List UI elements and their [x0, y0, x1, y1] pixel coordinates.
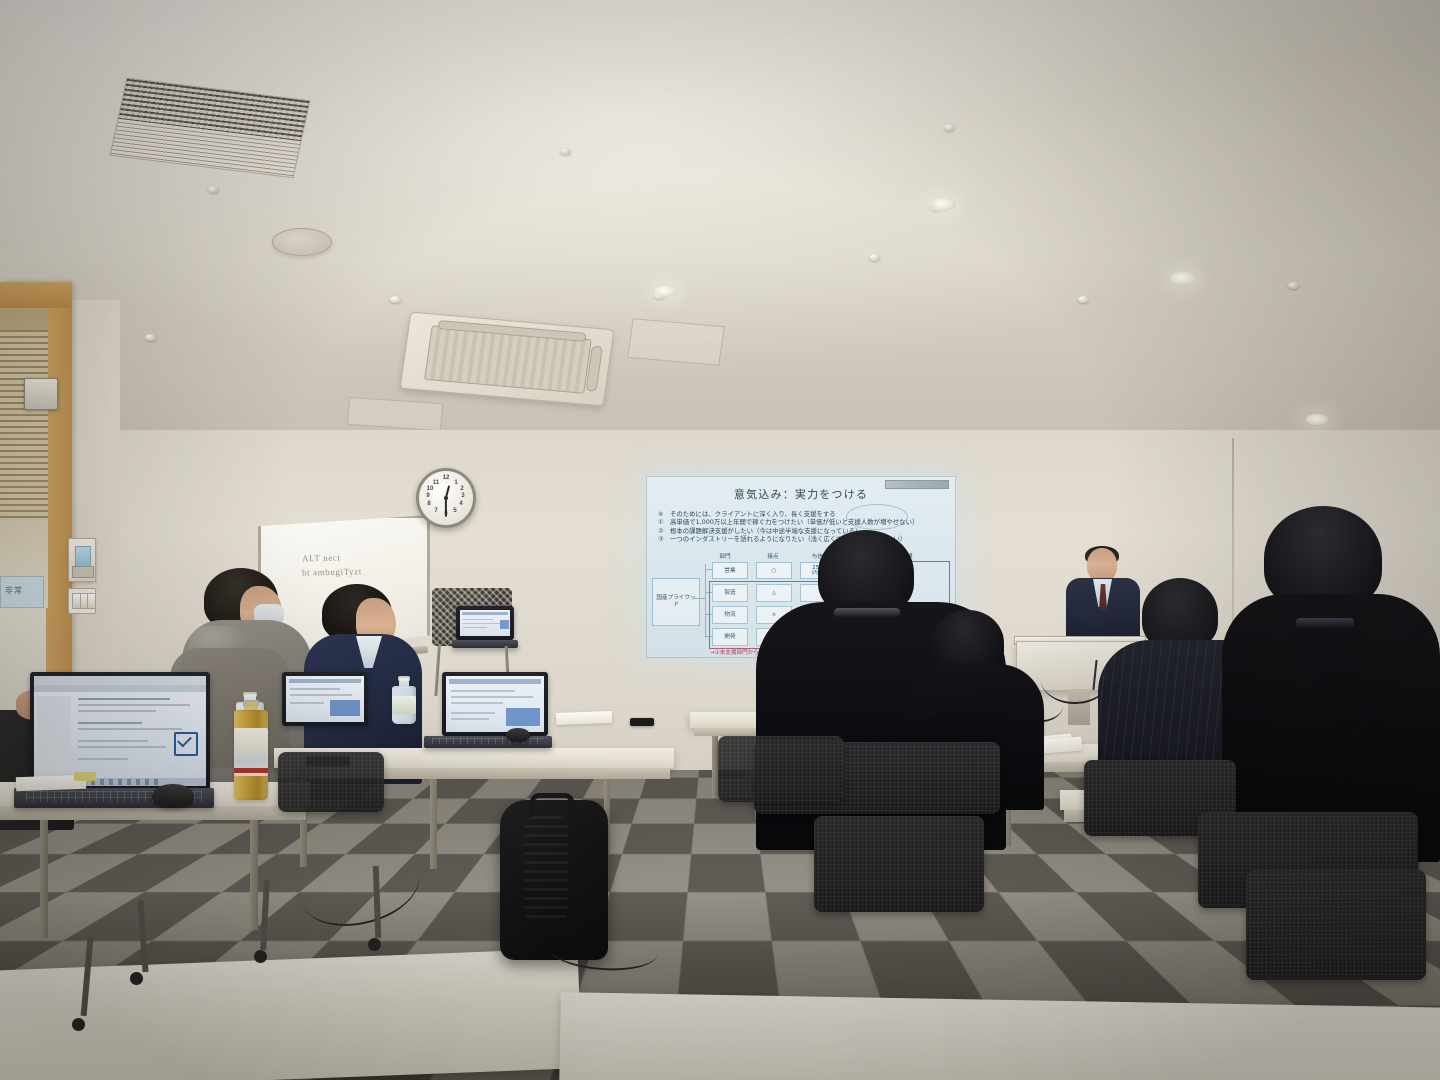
desk-foreground-left-apron	[0, 806, 306, 820]
sprinkler-head	[944, 124, 955, 131]
door-sign-label: 非常	[5, 585, 23, 596]
window-content-line	[451, 712, 495, 714]
laptop-foreground-left-screen	[30, 672, 210, 790]
door-lock-handle[interactable]	[24, 378, 58, 410]
ceiling-shading	[0, 0, 1440, 470]
chair-caster	[254, 950, 267, 963]
whiteboard-text-line-1: ALT nect	[302, 553, 341, 564]
window-titlebar	[34, 676, 206, 685]
attendee-collar	[834, 608, 900, 617]
backpack-front-panel	[524, 816, 568, 922]
chair-mesh	[814, 816, 984, 912]
window-selected-block	[330, 700, 360, 716]
bottle-label-stripe	[234, 768, 268, 773]
sprinkler-head	[560, 148, 571, 155]
chair-back	[814, 816, 984, 912]
window-content-line	[78, 704, 190, 706]
table-header-dept: 部門	[708, 552, 742, 560]
laptop-left-desk-screen	[282, 672, 368, 726]
desk-leg	[250, 820, 258, 930]
window-toolbar	[34, 685, 206, 692]
clock-numeral: 4	[457, 501, 465, 507]
window-content-line	[78, 758, 128, 760]
window-content-line	[78, 740, 148, 742]
ceiling-downlight	[930, 198, 956, 211]
window-content-line	[78, 698, 170, 700]
window-content-line	[78, 710, 156, 712]
clock-numeral: 7	[432, 508, 440, 514]
backpack-handle	[530, 793, 574, 814]
window-titlebar	[289, 679, 361, 683]
laptop-mid-left-screen	[442, 672, 548, 736]
projector-source-laptop-base	[452, 640, 518, 648]
laptop-display	[446, 676, 544, 732]
chair-caster	[72, 1018, 85, 1031]
sprinkler-head	[208, 186, 219, 193]
sprinkler-head	[390, 296, 401, 303]
laptop-display	[460, 610, 510, 636]
paper-stack	[556, 711, 612, 725]
ceiling-downlight	[1170, 272, 1196, 285]
window-content-line	[78, 728, 182, 730]
slide-circle-annotation	[846, 504, 908, 530]
computer-mouse[interactable]	[506, 728, 530, 742]
sprinkler-head	[1078, 296, 1089, 303]
thermostat-buttons[interactable]	[72, 566, 94, 577]
window-content-line	[78, 722, 142, 724]
sprinkler-head	[1288, 282, 1299, 289]
attendee-right-front-dark	[1222, 506, 1440, 862]
window-content-line	[463, 619, 493, 620]
clock-numeral: 2	[458, 486, 466, 492]
desk-leg	[430, 779, 437, 869]
presenter-head	[1087, 548, 1117, 582]
bullet-text: そのためには、クライアントに深く入り、長く支援をする	[670, 510, 836, 518]
door-blind	[0, 330, 48, 520]
chair-mesh	[278, 752, 384, 812]
bullet-marker: ③	[658, 535, 670, 543]
desk-leg	[40, 820, 48, 938]
paper-stack	[1042, 737, 1083, 754]
ceiling-access-panel	[627, 318, 725, 366]
conference-room-photo: 非常 ALT nect bt ambugiTyzt 12 3 6 9 1 2 4…	[0, 0, 1440, 1080]
clock-numeral: 3	[459, 493, 467, 499]
chair-back	[718, 736, 844, 802]
laptop-mid-left-base	[424, 736, 552, 748]
window-content-line	[463, 623, 501, 624]
table-root-node: 国産プライウッド	[652, 578, 700, 626]
laptop-display	[34, 676, 206, 786]
tea-bottle	[234, 700, 268, 800]
sticky-note	[74, 772, 96, 781]
clock-center-pin	[444, 496, 448, 500]
sprinkler-head	[869, 254, 880, 261]
sprinkler-head	[145, 334, 156, 341]
attendee-collar	[1296, 618, 1354, 628]
ceiling-downlight	[654, 286, 676, 297]
ceiling-speaker	[272, 228, 332, 256]
light-switch-plate[interactable]	[68, 588, 96, 614]
thermostat-panel[interactable]	[68, 538, 96, 582]
door-sign: 非常	[0, 576, 44, 608]
smartphone[interactable]	[630, 718, 654, 726]
window-selected-block	[506, 708, 540, 726]
chair-caster	[130, 972, 143, 985]
window-content-line	[451, 702, 503, 704]
bullet-marker: ①	[658, 518, 670, 526]
window-content-line	[451, 718, 489, 720]
clock-numeral: 9	[424, 493, 432, 499]
table-cell-dept: 営業	[712, 562, 748, 579]
wall-clock: 12 3 6 9 1 2 4 5 7 8 10 11	[416, 468, 476, 528]
projector-source-laptop-screen	[456, 606, 514, 640]
chair-mesh	[718, 736, 844, 802]
window-titlebar	[449, 679, 541, 684]
clock-numeral: 11	[432, 480, 440, 486]
window-content-line	[463, 627, 487, 628]
chair-back	[1246, 870, 1426, 980]
ceiling-downlight	[1306, 414, 1328, 425]
window-content-line	[451, 696, 533, 698]
slide-title: 意気込み：実力をつける	[646, 486, 956, 502]
computer-mouse[interactable]	[152, 784, 194, 808]
clock-numeral: 5	[451, 508, 459, 514]
clock-numeral: 10	[426, 486, 434, 492]
water-bottle	[392, 676, 416, 724]
thermostat-display	[75, 546, 92, 567]
clock-minute-hand	[445, 498, 447, 517]
chair-caster	[368, 938, 381, 951]
window-content-line	[78, 746, 166, 748]
clock-numeral: 12	[442, 475, 450, 481]
laptop-display	[286, 676, 364, 722]
window-content-line	[290, 694, 352, 696]
window-sidebar	[37, 696, 71, 770]
desk-foreground-bottom-right	[559, 992, 1440, 1080]
light-switch-rocker[interactable]	[87, 593, 96, 608]
window-content-line	[290, 688, 340, 690]
window-content-line	[451, 690, 515, 692]
window-content-line	[290, 702, 324, 704]
chair-mesh	[1246, 870, 1426, 980]
tree-connector	[705, 564, 706, 638]
window-highlight	[500, 620, 509, 629]
tree-branch	[705, 569, 712, 570]
door-header	[0, 282, 72, 308]
chair-back	[278, 752, 384, 812]
window-titlebar	[462, 612, 508, 615]
bottle-label	[392, 696, 416, 714]
bullet-marker: ②	[658, 527, 670, 535]
bullet-marker: ※	[658, 510, 670, 518]
clock-numeral: 8	[425, 501, 433, 507]
